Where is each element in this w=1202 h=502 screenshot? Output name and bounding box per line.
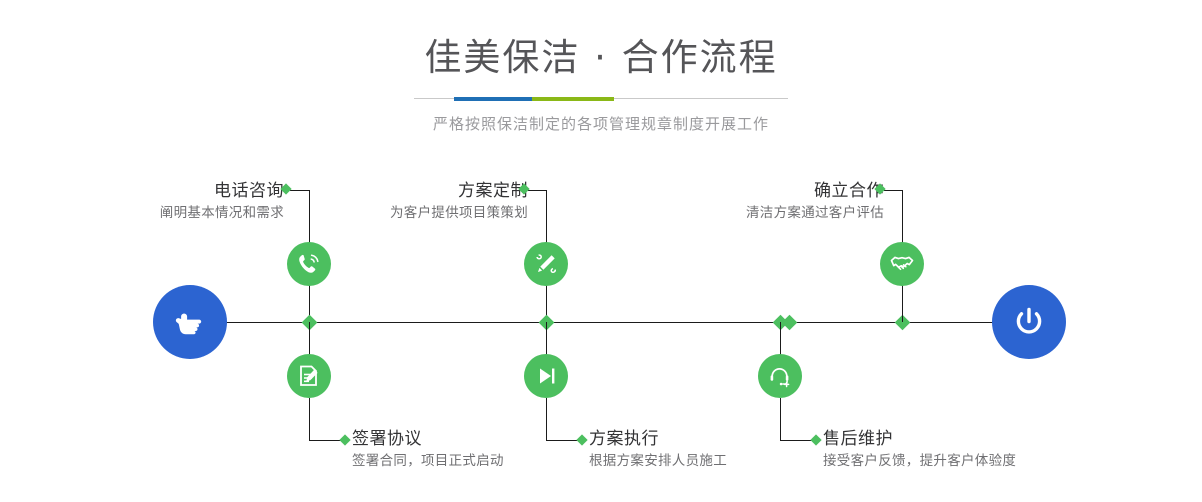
page-title: 佳美保洁 · 合作流程 [0,0,1202,82]
timeline-end-node [992,285,1066,359]
play-execute-icon [533,363,559,389]
step-2-icon-bubble [287,354,331,398]
step-5-connector-elbow [902,190,903,235]
step-1-connector-horizontal [290,190,310,191]
handshake-icon [889,251,915,277]
page-subtitle: 严格按照保洁制定的各项管理规章制度开展工作 [0,113,1202,135]
step-3-title: 方案定制 [330,180,528,203]
header: 佳美保洁 · 合作流程 严格按照保洁制定的各项管理规章制度开展工作 [0,0,1202,135]
step-5-title: 确立合作 [690,180,884,203]
step-3-connector-horizontal [528,190,546,191]
phone-call-icon [296,251,322,277]
step-6-label: 售后维护 接受客户反馈，提升客户体验度 [823,428,1016,472]
step-4-label-marker [576,434,587,445]
step-1-title: 电话咨询 [90,180,284,203]
step-6-connector-vertical [780,322,781,357]
divider-green-segment [532,97,614,101]
step-6-title: 售后维护 [823,428,1016,451]
step-2-title: 签署协议 [352,428,504,451]
title-divider [414,98,788,99]
step-4-title: 方案执行 [589,428,727,451]
step-2-desc: 签署合同，项目正式启动 [352,451,504,472]
step-4-desc: 根据方案安排人员施工 [589,451,727,472]
step-1-icon-bubble [287,242,331,286]
step-2-label-marker [339,434,350,445]
pencil-design-icon [533,251,559,277]
timeline-start-node [153,285,227,359]
headset-support-icon [767,363,793,389]
power-icon [1008,301,1050,343]
step-6-icon-bubble [758,354,802,398]
divider-blue-segment [454,97,532,101]
step-6-connector-elbow [780,398,781,441]
step-5-icon-bubble [880,242,924,286]
step-5-desc: 清洁方案通过客户评估 [690,203,884,224]
step-6-desc: 接受客户反馈，提升客户体验度 [823,451,1016,472]
pointing-hand-icon [170,302,210,342]
step-1-label: 电话咨询 阐明基本情况和需求 [90,180,284,224]
step-4-connector-elbow [546,398,547,441]
step-4-label: 方案执行 根据方案安排人员施工 [589,428,727,472]
step-3-connector-elbow [546,190,547,235]
process-timeline: 电话咨询 阐明基本情况和需求 [0,160,1202,502]
step-1-connector-elbow [309,190,310,235]
step-3-icon-bubble [524,242,568,286]
step-3-desc: 为客户提供项目策策划 [330,203,528,224]
step-2-label: 签署协议 签署合同，项目正式启动 [352,428,504,472]
step-1-desc: 阐明基本情况和需求 [90,203,284,224]
step-2-connector-vertical [309,322,310,357]
cooperation-process-infographic: 佳美保洁 · 合作流程 严格按照保洁制定的各项管理规章制度开展工作 [0,0,1202,502]
step-4-connector-vertical [546,322,547,357]
step-3-label: 方案定制 为客户提供项目策策划 [330,180,528,224]
step-5-label: 确立合作 清洁方案通过客户评估 [690,180,884,224]
step-5-connector-horizontal [884,190,902,191]
step-6-label-marker [810,434,821,445]
step-2-connector-elbow [309,398,310,441]
document-sign-icon [296,363,322,389]
step-4-icon-bubble [524,354,568,398]
